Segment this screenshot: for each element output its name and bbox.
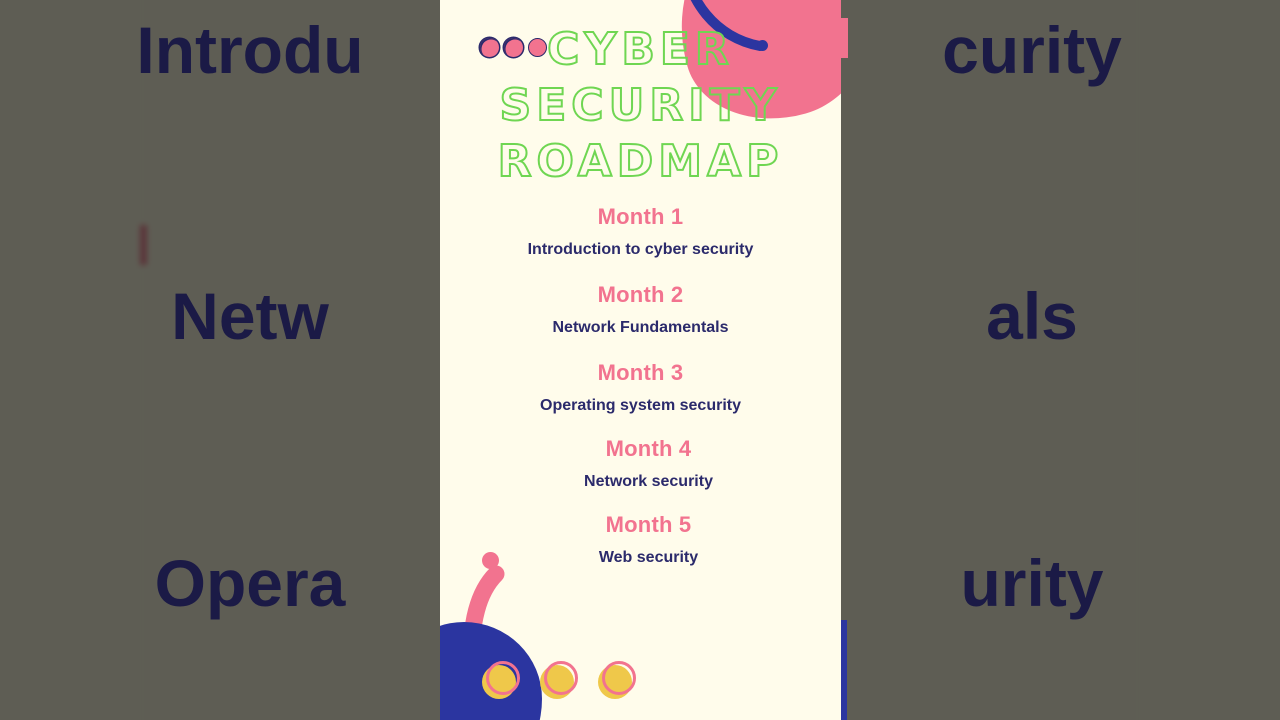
roadmap-item: Month 5 Web security <box>448 510 841 571</box>
screenshot-canvas: Introduc Netw Opera Introdu Netw Opera c… <box>0 0 1280 720</box>
roadmap-item-description: Web security <box>448 545 841 571</box>
roadmap-item-description: Network Fundamentals <box>440 315 841 341</box>
roadmap-item-label: Month 1 <box>440 202 841 232</box>
coin-ring <box>544 661 578 695</box>
title-line-1: CYBER <box>440 22 841 78</box>
title-line-3: ROADMAP <box>440 134 841 190</box>
roadmap-item: Month 1 Introduction to cyber security <box>440 202 841 263</box>
roadmap-item-description: Operating system security <box>440 393 841 419</box>
coin-icon <box>540 663 578 701</box>
title-line-2: SECURITY <box>440 78 841 134</box>
coin-ring <box>602 661 636 695</box>
roadmap-item-label: Month 2 <box>440 280 841 310</box>
roadmap-item-label: Month 5 <box>448 510 841 540</box>
coin-icon <box>598 663 636 701</box>
coin-ring <box>486 661 520 695</box>
roadmap-item: Month 4 Network security <box>448 434 841 495</box>
backdrop-navy-accent <box>841 620 847 720</box>
roadmap-item: Month 3 Operating system security <box>440 358 841 419</box>
coin-group <box>482 663 636 701</box>
roadmap-list: Month 1 Introduction to cyber security M… <box>440 202 841 588</box>
roadmap-item-description: Introduction to cyber security <box>440 237 841 263</box>
roadmap-item: Month 2 Network Fundamentals <box>440 280 841 341</box>
roadmap-item-label: Month 3 <box>440 358 841 388</box>
coin-icon <box>482 663 520 701</box>
backdrop-pink-accent <box>841 18 848 58</box>
poster-panel: CYBER SECURITY ROADMAP Month 1 Introduct… <box>440 0 841 720</box>
page-title: CYBER SECURITY ROADMAP <box>440 22 841 190</box>
roadmap-item-description: Network security <box>448 469 841 495</box>
roadmap-item-label: Month 4 <box>448 434 841 464</box>
